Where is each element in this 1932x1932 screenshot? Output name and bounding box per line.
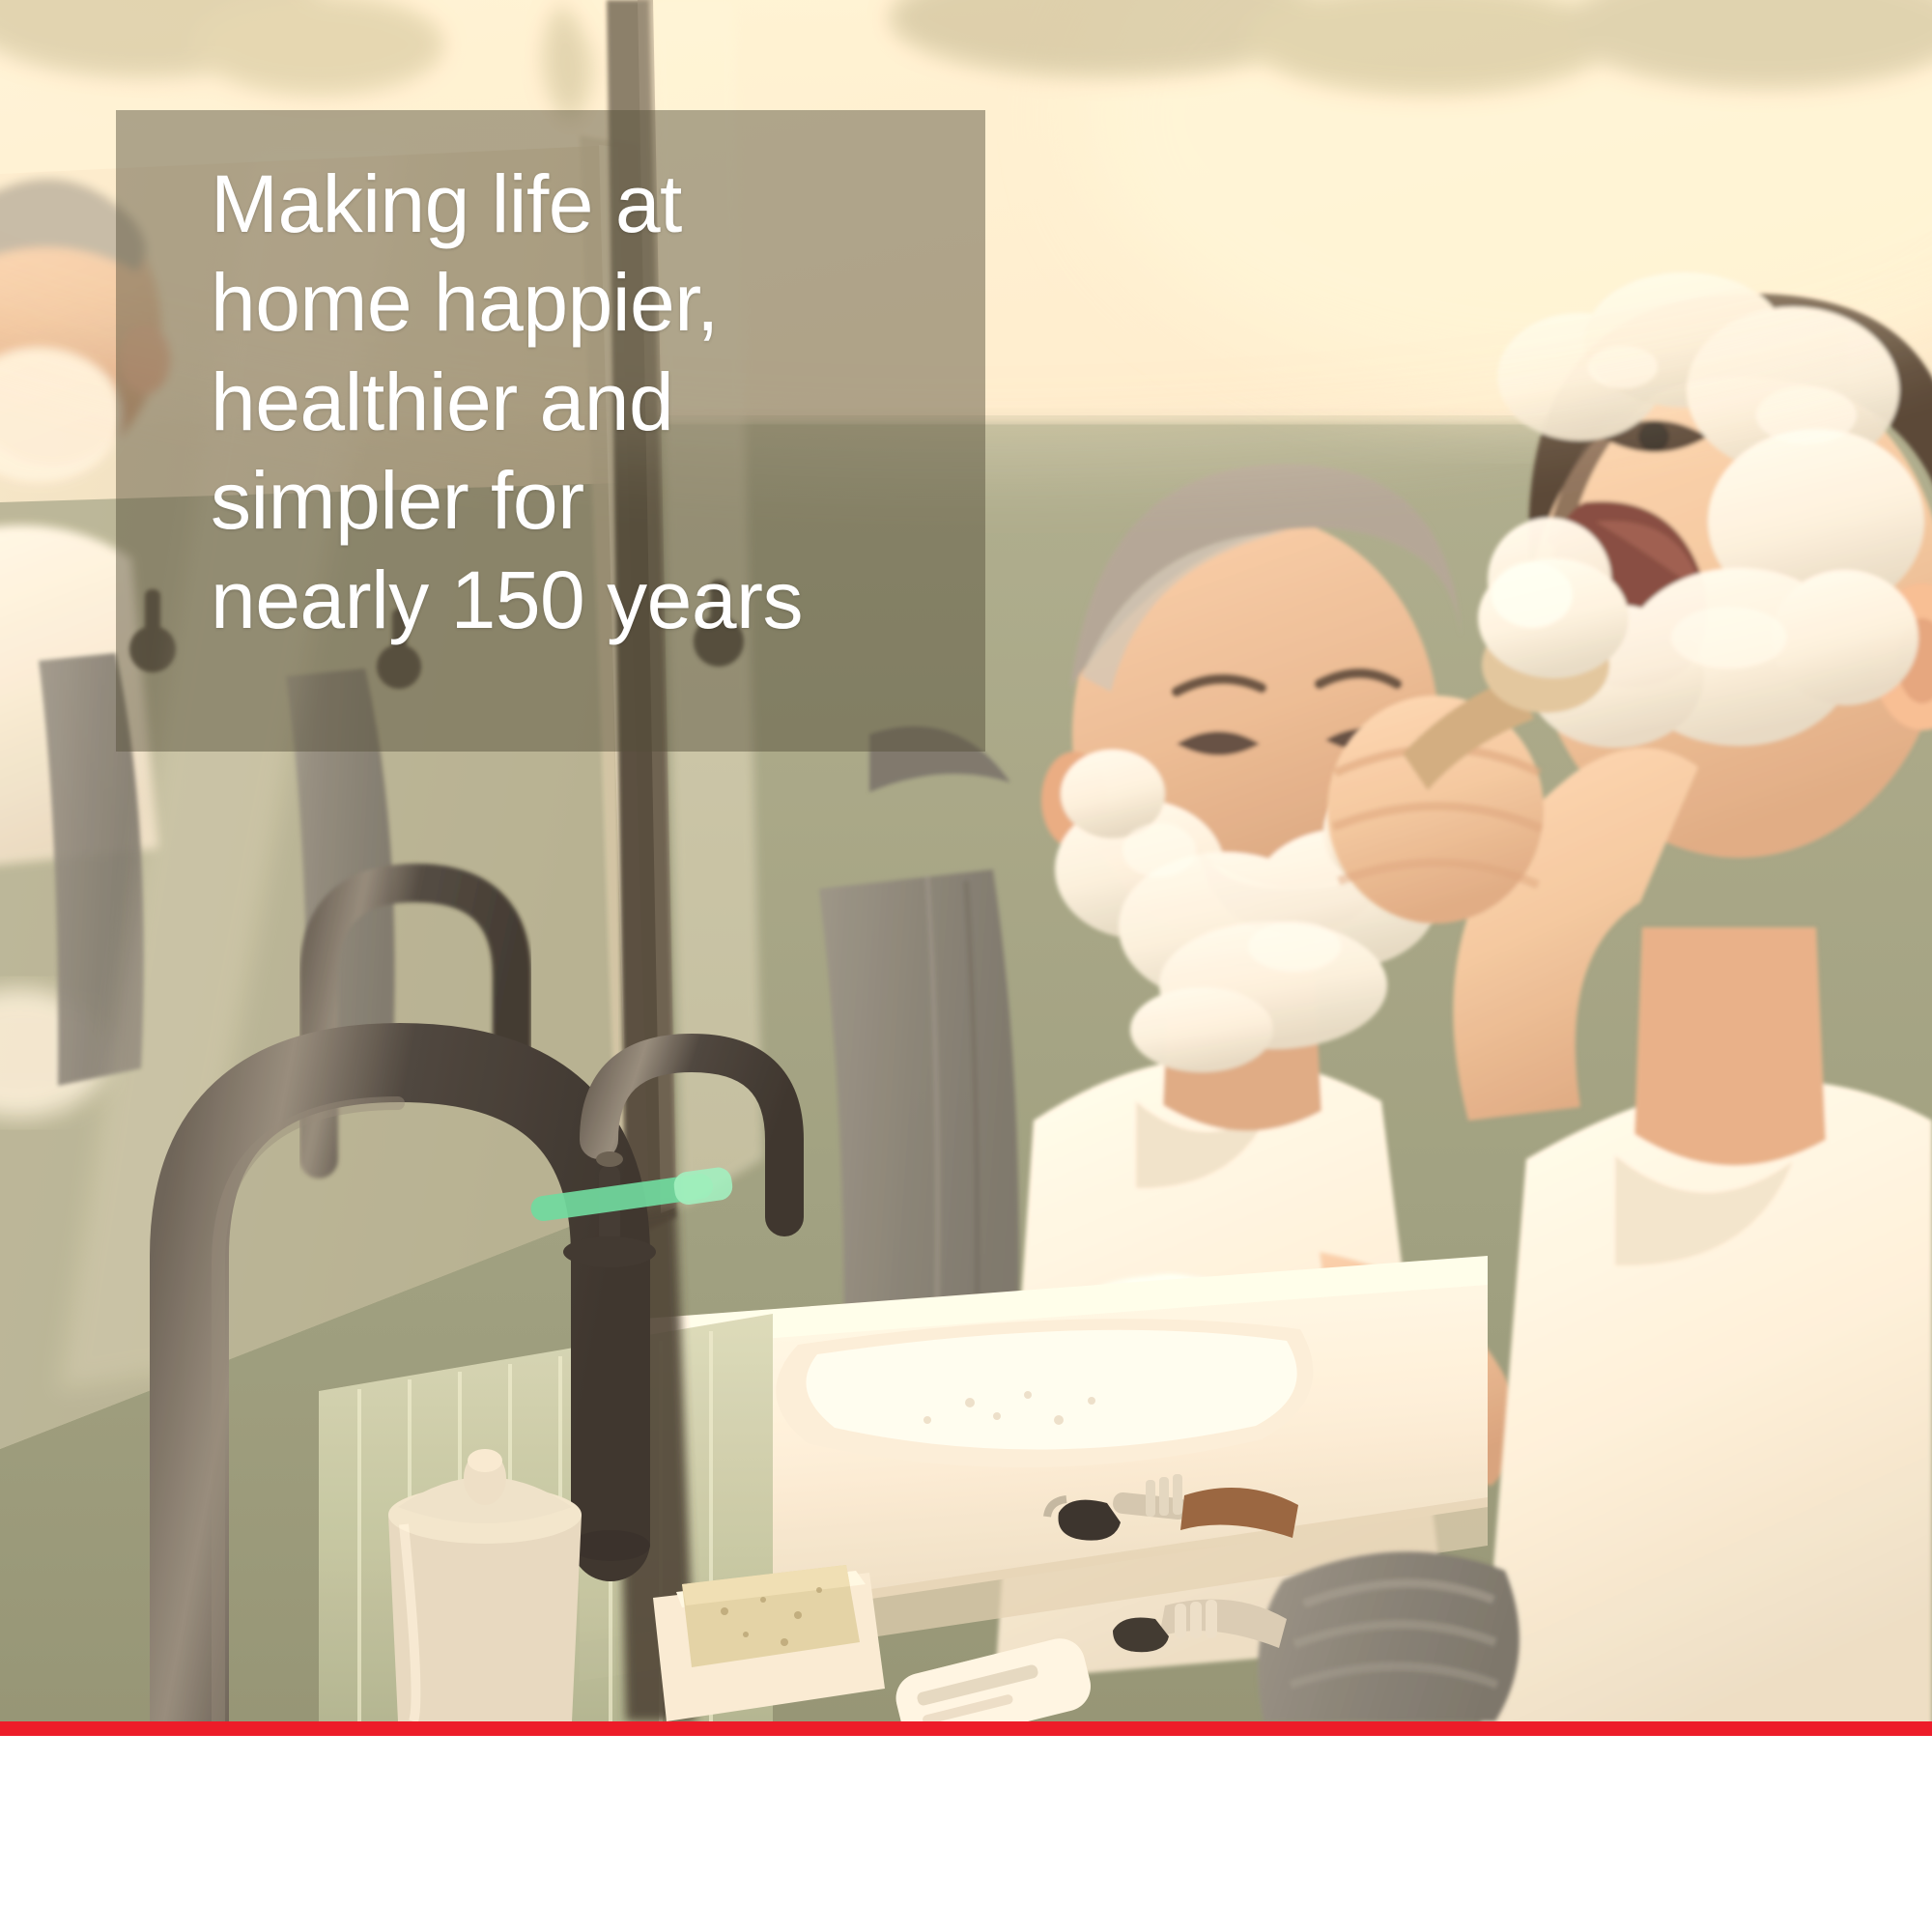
ad-canvas: Making life at home happier, healthier a…	[0, 0, 1932, 1932]
brand-accent-bar	[0, 1721, 1932, 1736]
headline-text: Making life at home happier, healthier a…	[211, 155, 1012, 649]
footer-bar: American Standard American Standard	[0, 1736, 1932, 1932]
